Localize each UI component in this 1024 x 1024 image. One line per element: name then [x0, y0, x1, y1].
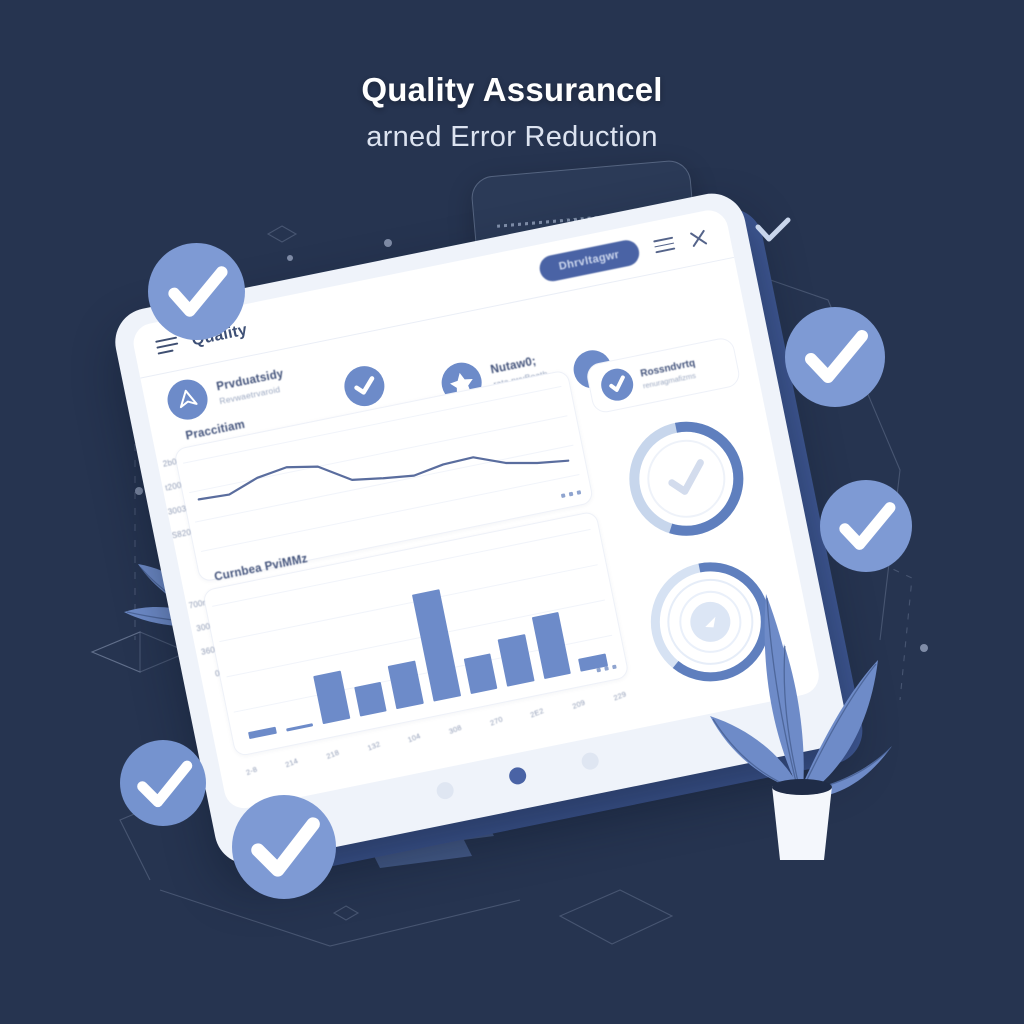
y-tick: t200	[151, 482, 182, 496]
illustration-stage: Quality Assurancel arned Error Reduction	[0, 0, 1024, 1024]
y-tick: 3003	[156, 505, 187, 519]
y-tick: 0	[190, 670, 221, 684]
bar	[286, 724, 314, 732]
x-tick: 132	[366, 739, 382, 752]
check-badge	[148, 243, 245, 340]
x-tick: 104	[407, 731, 423, 744]
x-tick: 214	[284, 756, 300, 769]
y-tick: 360	[185, 646, 216, 660]
y-tick: 2b0	[147, 458, 178, 472]
x-tick: 308	[447, 723, 463, 736]
primary-action-button[interactable]: Dhrvltagwr	[537, 237, 642, 283]
x-tick: 2E2	[529, 706, 545, 719]
check-icon	[120, 740, 206, 826]
check-icon	[669, 463, 705, 494]
x-tick: 270	[488, 714, 504, 727]
check-icon	[232, 795, 336, 899]
bezel-dot-active[interactable]	[508, 766, 528, 786]
check-badge	[820, 480, 912, 572]
bar	[248, 727, 276, 740]
check-badge	[232, 795, 336, 899]
bezel-dot[interactable]	[580, 751, 600, 771]
x-tick: 229	[612, 689, 628, 702]
bar	[388, 661, 424, 709]
y-tick: 700r	[175, 599, 206, 613]
diamond-icon	[164, 376, 211, 423]
check-badge	[120, 740, 206, 826]
check-icon	[148, 243, 245, 340]
check-badge	[785, 307, 885, 407]
bar	[532, 612, 572, 679]
check-icon	[752, 215, 794, 247]
plant-right	[700, 588, 900, 868]
x-tick: 218	[325, 748, 341, 761]
y-tick: 300	[180, 623, 211, 637]
check-icon	[341, 363, 388, 410]
x-tick: 2-8	[245, 765, 259, 778]
bezel-dot[interactable]	[435, 781, 455, 801]
check-icon	[785, 307, 885, 407]
bar	[313, 670, 350, 724]
bar	[463, 654, 497, 694]
check-icon	[598, 366, 636, 404]
topbar-actions: Dhrvltagwr	[537, 223, 710, 283]
y-tick: S820	[161, 529, 192, 543]
stat-item[interactable]	[341, 360, 399, 409]
hamburger-icon[interactable]	[653, 237, 675, 254]
x-tick: 209	[571, 698, 587, 711]
completion-donut	[612, 404, 761, 553]
check-icon	[820, 480, 912, 572]
bar	[354, 681, 387, 716]
bar	[498, 634, 535, 686]
close-icon[interactable]	[688, 227, 709, 248]
